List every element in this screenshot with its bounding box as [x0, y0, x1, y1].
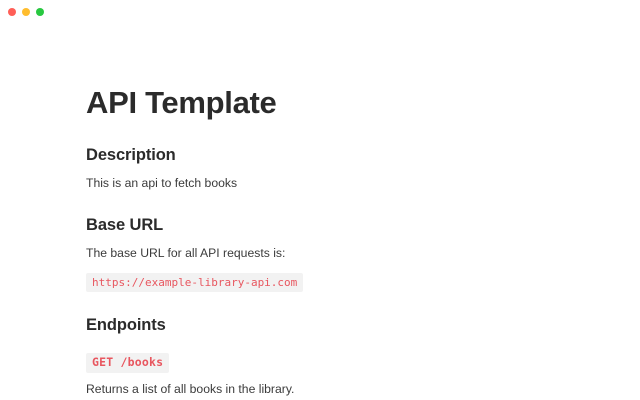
window-controls — [8, 8, 44, 16]
code-chip-endpoint-get-books[interactable]: GET /books — [86, 353, 169, 373]
section-paragraph-endpoints: Returns a list of all books in the libra… — [86, 381, 586, 399]
minimize-window-icon[interactable] — [22, 8, 30, 16]
document-viewport[interactable]: API Template Description This is an api … — [0, 26, 640, 400]
section-heading-endpoints: Endpoints — [86, 316, 586, 336]
spacer — [86, 166, 586, 175]
section-description: Description This is an api to fetch book… — [86, 146, 586, 192]
code-line-base-url: https://example-library-api.com — [86, 273, 586, 292]
section-heading-base-url: Base URL — [86, 216, 586, 236]
code-line-endpoint: GET /books — [86, 353, 586, 373]
spacer — [86, 373, 586, 381]
window-titlebar — [0, 0, 640, 26]
code-chip-base-url[interactable]: https://example-library-api.com — [86, 273, 303, 292]
section-paragraph-base-url: The base URL for all API requests is: — [86, 245, 586, 263]
spacer — [86, 335, 586, 345]
spacer — [86, 121, 586, 146]
spacer — [86, 236, 586, 245]
maximize-window-icon[interactable] — [36, 8, 44, 16]
section-base-url: Base URL The base URL for all API reques… — [86, 216, 586, 291]
document-content: API Template Description This is an api … — [0, 26, 586, 400]
spacer — [86, 263, 586, 273]
app-window: API Template Description This is an api … — [0, 0, 640, 400]
spacer — [86, 192, 586, 216]
section-paragraph-description: This is an api to fetch books — [86, 175, 586, 193]
spacer — [86, 292, 586, 316]
section-endpoints: Endpoints GET /books Returns a list of a… — [86, 316, 586, 399]
page-title: API Template — [86, 86, 586, 121]
close-window-icon[interactable] — [8, 8, 16, 16]
spacer — [86, 345, 586, 353]
section-heading-description: Description — [86, 146, 586, 166]
